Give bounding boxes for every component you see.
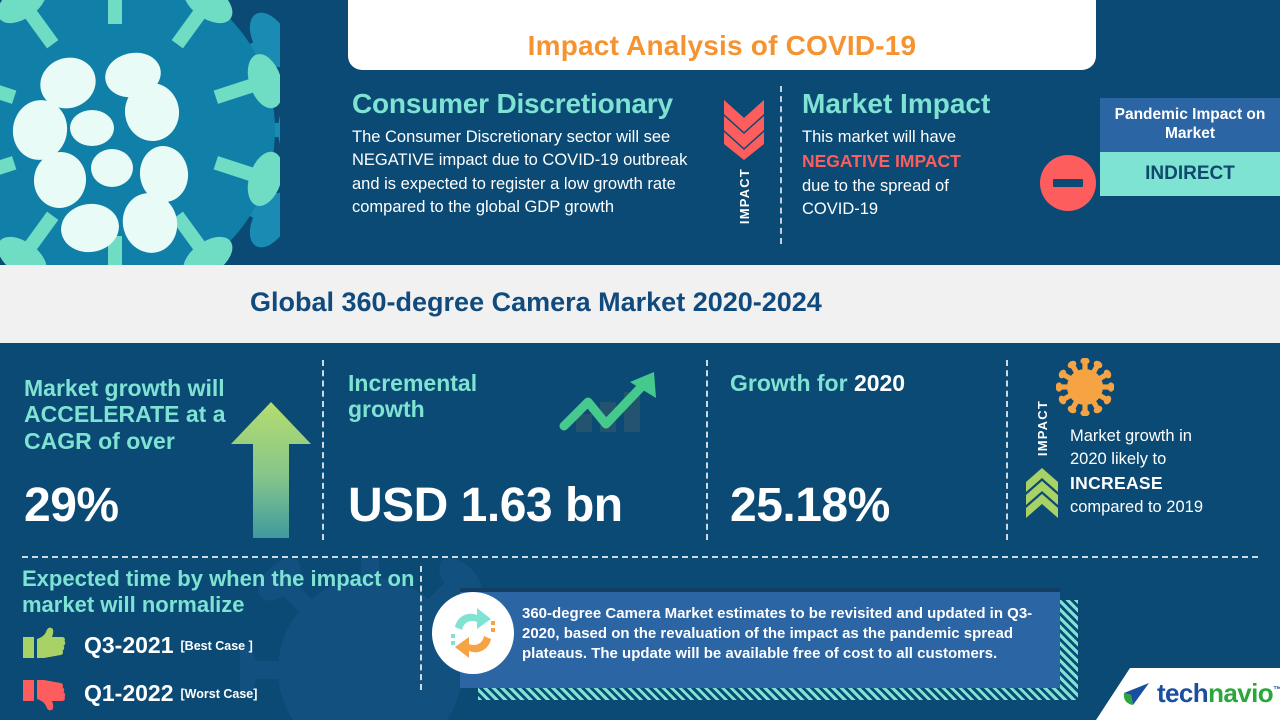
- best-case-tag: [Best Case ]: [181, 639, 253, 653]
- divider-vertical-2: [322, 360, 324, 540]
- pandemic-impact-header: Pandemic Impact on Market: [1100, 98, 1280, 152]
- worst-case-tag: [Worst Case]: [181, 687, 258, 701]
- minus-circle-icon: [1040, 155, 1096, 211]
- chevron-up-icon: [1025, 468, 1059, 518]
- market-title-band: Global 360-degree Camera Market 2020-202…: [0, 265, 1280, 343]
- stat-growth-heading-part2: 2020: [854, 370, 905, 396]
- technavio-arrow-icon: [1122, 680, 1152, 708]
- stat-growth-2020: Growth for 2020 25.18%: [730, 370, 990, 396]
- coronavirus-orange-icon: [1056, 358, 1114, 421]
- stat-incremental-value: USD 1.63 bn: [348, 478, 623, 533]
- trending-up-icon: [558, 368, 662, 445]
- impact-2020-line3: compared to 2019: [1070, 498, 1203, 516]
- list-item-best-case: Q3-2021 [Best Case ]: [22, 626, 422, 666]
- divider-vertical-1: [780, 86, 782, 244]
- impact-indicator-negative: IMPACT: [716, 98, 772, 248]
- consumer-discretionary-heading: Consumer Discretionary: [352, 88, 714, 120]
- logo-trademark: ™: [1273, 684, 1280, 694]
- logo-text-part2: navio: [1208, 678, 1273, 708]
- stat-growth-value: 25.18%: [730, 478, 890, 533]
- stat-cagr-heading: Market growth will ACCELERATE at a CAGR …: [24, 375, 234, 454]
- market-impact-block: Market Impact This market will have NEGA…: [802, 88, 1017, 222]
- thumbs-down-icon: [22, 674, 66, 714]
- impact-2020-line1: Market growth in: [1070, 427, 1192, 445]
- market-impact-line1: This market will have: [802, 128, 956, 146]
- market-impact-heading: Market Impact: [802, 88, 1017, 120]
- divider-vertical-5: [420, 566, 422, 690]
- thumbs-up-icon: [22, 626, 66, 666]
- consumer-discretionary-block: Consumer Discretionary The Consumer Disc…: [352, 88, 714, 220]
- list-item-worst-case: Q1-2022 [Worst Case]: [22, 674, 422, 714]
- stat-incremental-heading: Incremental growth: [348, 370, 548, 423]
- market-impact-line2: due to the spread of: [802, 177, 949, 195]
- chevron-down-stack: [722, 98, 766, 160]
- divider-vertical-4: [1006, 360, 1008, 540]
- refresh-cycle-icon: [432, 592, 514, 674]
- best-case-quarter: Q3-2021: [84, 632, 174, 659]
- page-title: Impact Analysis of COVID-19: [528, 30, 917, 62]
- infographic-root: Impact Analysis of COVID-19 Consumer Dis…: [0, 0, 1280, 720]
- consumer-discretionary-body: The Consumer Discretionary sector will s…: [352, 126, 714, 220]
- stat-cagr-value: 29%: [24, 478, 234, 533]
- divider-vertical-3: [706, 360, 708, 540]
- impact-indicator-positive: IMPACT: [1022, 400, 1062, 518]
- impact-label-bottom: IMPACT: [1035, 400, 1050, 456]
- market-impact-highlight: NEGATIVE IMPACT: [802, 151, 961, 171]
- impact-2020-line2: 2020 likely to: [1070, 450, 1166, 468]
- normalize-heading: Expected time by when the impact on mark…: [22, 566, 422, 618]
- stat-incremental: Incremental growth USD 1.63 bn: [348, 370, 548, 423]
- chevron-down-icon: [722, 98, 766, 160]
- divider-horizontal: [22, 556, 1258, 558]
- impact-label-top: IMPACT: [737, 168, 752, 224]
- worst-case-quarter: Q1-2022: [84, 680, 174, 707]
- page-title-pill: Impact Analysis of COVID-19: [348, 0, 1096, 70]
- market-impact-line3: COVID-19: [802, 200, 878, 218]
- impact-2020-highlight: INCREASE: [1070, 473, 1163, 493]
- stat-cagr: Market growth will ACCELERATE at a CAGR …: [24, 375, 234, 533]
- normalize-block: Expected time by when the impact on mark…: [22, 566, 422, 714]
- arrow-up-icon: [228, 398, 314, 543]
- logo-text-part1: tech: [1157, 678, 1208, 708]
- stat-growth-heading-part1: Growth for: [730, 370, 854, 396]
- market-title: Global 360-degree Camera Market 2020-202…: [250, 287, 822, 318]
- technavio-logo: technavio™: [1122, 678, 1280, 709]
- pandemic-impact-box: Pandemic Impact on Market INDIRECT: [1100, 98, 1280, 196]
- callout-text: 360-degree Camera Market estimates to be…: [460, 592, 1060, 664]
- pandemic-impact-value: INDIRECT: [1100, 152, 1280, 196]
- stat-impact-2020-text: Market growth in 2020 likely to INCREASE…: [1070, 425, 1270, 519]
- callout-box: 360-degree Camera Market estimates to be…: [460, 588, 1060, 688]
